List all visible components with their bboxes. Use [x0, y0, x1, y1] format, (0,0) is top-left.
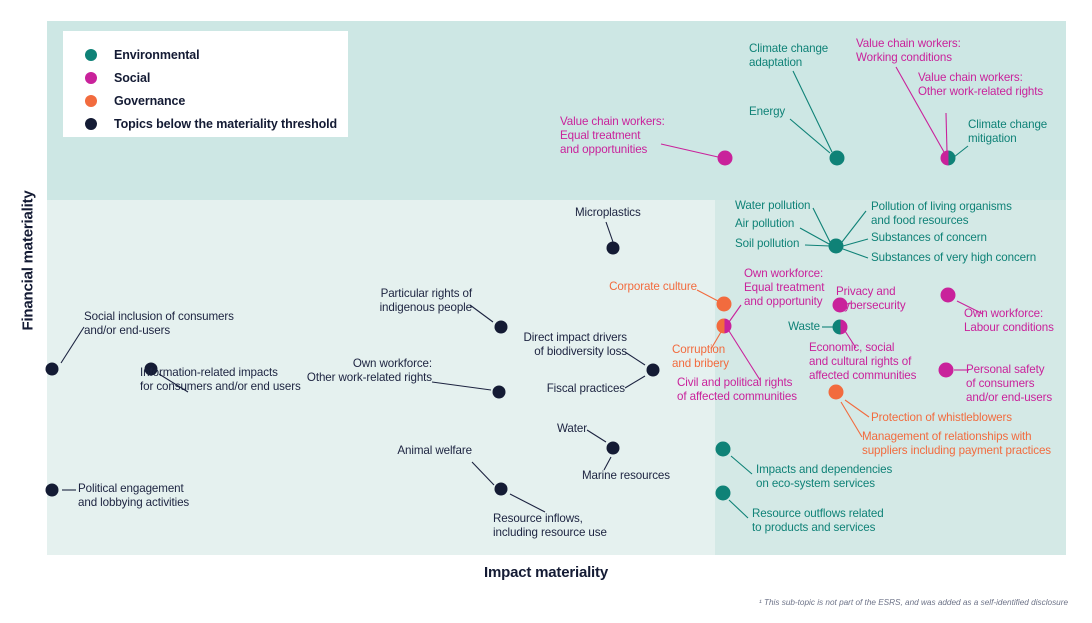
- label-civil-political-rights: Civil and political rights of affected c…: [677, 376, 797, 404]
- label-protection-whistleblowers: Protection of whistleblowers: [871, 411, 1012, 425]
- label-marine-resources: Marine resources: [582, 469, 670, 483]
- label-personal-safety-consumers: Personal safety of consumers and/or end-…: [966, 363, 1052, 406]
- label-corruption-bribery: Corruption and bribery: [672, 343, 729, 371]
- point-whistleblowers-supplier-management[interactable]: [829, 385, 844, 400]
- footnote: ¹ This sub-topic is not part of the ESRS…: [759, 598, 1068, 607]
- label-climate-change-mitigation: Climate change mitigation: [968, 118, 1047, 146]
- label-energy: Energy: [749, 105, 785, 119]
- label-substances-of-concern: Substances of concern: [871, 231, 987, 245]
- legend-item-governance[interactable]: Governance: [85, 89, 348, 112]
- point-ecosystem-services[interactable]: [716, 442, 731, 457]
- legend-dot-below-threshold: [85, 118, 97, 130]
- half-social: [941, 151, 949, 166]
- legend: Environmental Social Governance Topics b…: [63, 31, 348, 137]
- label-biodiversity-loss: Direct impact drivers of biodiversity lo…: [455, 331, 627, 359]
- label-value-chain-equal-treatment: Value chain workers: Equal treatment and…: [560, 115, 665, 158]
- x-axis-title: Impact materiality: [0, 564, 1092, 581]
- point-own-workforce-other-rights[interactable]: [493, 386, 506, 399]
- label-value-chain-other-rights: Value chain workers: Other work-related …: [918, 71, 1043, 99]
- label-soil-pollution: Soil pollution: [735, 237, 799, 251]
- y-axis-title: Financial materiality: [20, 136, 37, 386]
- point-biodiversity-fiscal[interactable]: [647, 364, 660, 377]
- label-management-supplier-relationships: Management of relationships with supplie…: [862, 430, 1051, 458]
- point-corporate-culture[interactable]: [717, 297, 732, 312]
- point-resource-outflows[interactable]: [716, 486, 731, 501]
- point-climate-mitigation-value-chain[interactable]: [941, 151, 956, 166]
- label-animal-welfare: Animal welfare: [342, 444, 472, 458]
- label-value-chain-working-conditions: Value chain workers: Working conditions: [856, 37, 961, 65]
- point-pollution-cluster[interactable]: [829, 239, 844, 254]
- label-political-engagement: Political engagement and lobbying activi…: [78, 482, 189, 510]
- legend-item-social[interactable]: Social: [85, 66, 348, 89]
- label-privacy-cybersecurity: Privacy and Cybersecurity: [836, 285, 906, 313]
- label-information-related-impacts: Information-related impacts for consumer…: [140, 366, 301, 394]
- label-resource-inflows: Resource inflows, including resource use: [493, 512, 607, 540]
- label-own-workforce-other-rights: Own workforce: Other work-related rights: [280, 357, 432, 385]
- point-climate-adaptation-energy[interactable]: [830, 151, 845, 166]
- label-own-workforce-equal-treatment: Own workforce: Equal treatment and oppor…: [744, 267, 824, 310]
- label-pollution-living-organisms: Pollution of living organisms and food r…: [871, 200, 1012, 228]
- legend-dot-governance: [85, 95, 97, 107]
- legend-label-environmental: Environmental: [114, 48, 200, 62]
- label-social-inclusion-consumers: Social inclusion of consumers and/or end…: [84, 310, 234, 338]
- label-fiscal-practices: Fiscal practices: [505, 382, 625, 396]
- label-waste: Waste: [700, 320, 820, 334]
- label-microplastics: Microplastics: [575, 206, 641, 220]
- point-animal-welfare-resource-inflows[interactable]: [495, 483, 508, 496]
- label-indigenous-rights: Particular rights of indigenous people: [310, 287, 472, 315]
- point-microplastics[interactable]: [607, 242, 620, 255]
- legend-dot-social: [85, 72, 97, 84]
- label-impacts-dependencies-ecosystem: Impacts and dependencies on eco-system s…: [756, 463, 892, 491]
- point-political-engagement[interactable]: [46, 484, 59, 497]
- point-social-inclusion-consumers[interactable]: [46, 363, 59, 376]
- point-personal-safety-consumers[interactable]: [939, 363, 954, 378]
- point-value-chain-equal-treatment[interactable]: [718, 151, 733, 166]
- label-resource-outflows: Resource outflows related to products an…: [752, 507, 884, 535]
- point-own-workforce-labour-conditions[interactable]: [941, 288, 956, 303]
- label-corporate-culture: Corporate culture: [535, 280, 697, 294]
- legend-item-environmental[interactable]: Environmental: [85, 43, 348, 66]
- half-environmental: [833, 320, 841, 335]
- legend-label-governance: Governance: [114, 94, 185, 108]
- label-water: Water: [487, 422, 587, 436]
- label-air-pollution: Air pollution: [735, 217, 794, 231]
- half-environmental: [948, 151, 956, 166]
- point-water-marine[interactable]: [607, 442, 620, 455]
- half-social: [840, 320, 848, 335]
- label-climate-change-adaptation: Climate change adaptation: [749, 42, 828, 70]
- legend-label-below-threshold: Topics below the materiality threshold: [114, 117, 337, 131]
- label-substances-very-high-concern: Substances of very high concern: [871, 251, 1036, 265]
- label-own-workforce-labour-conditions: Own workforce: Labour conditions: [964, 307, 1054, 335]
- label-water-pollution: Water pollution: [735, 199, 810, 213]
- label-economic-social-cultural-rights: Economic, social and cultural rights of …: [809, 341, 916, 384]
- legend-label-social: Social: [114, 71, 150, 85]
- point-waste-economic-social-rights[interactable]: [833, 320, 848, 335]
- legend-dot-environmental: [85, 49, 97, 61]
- legend-item-below-threshold[interactable]: Topics below the materiality threshold: [85, 112, 348, 135]
